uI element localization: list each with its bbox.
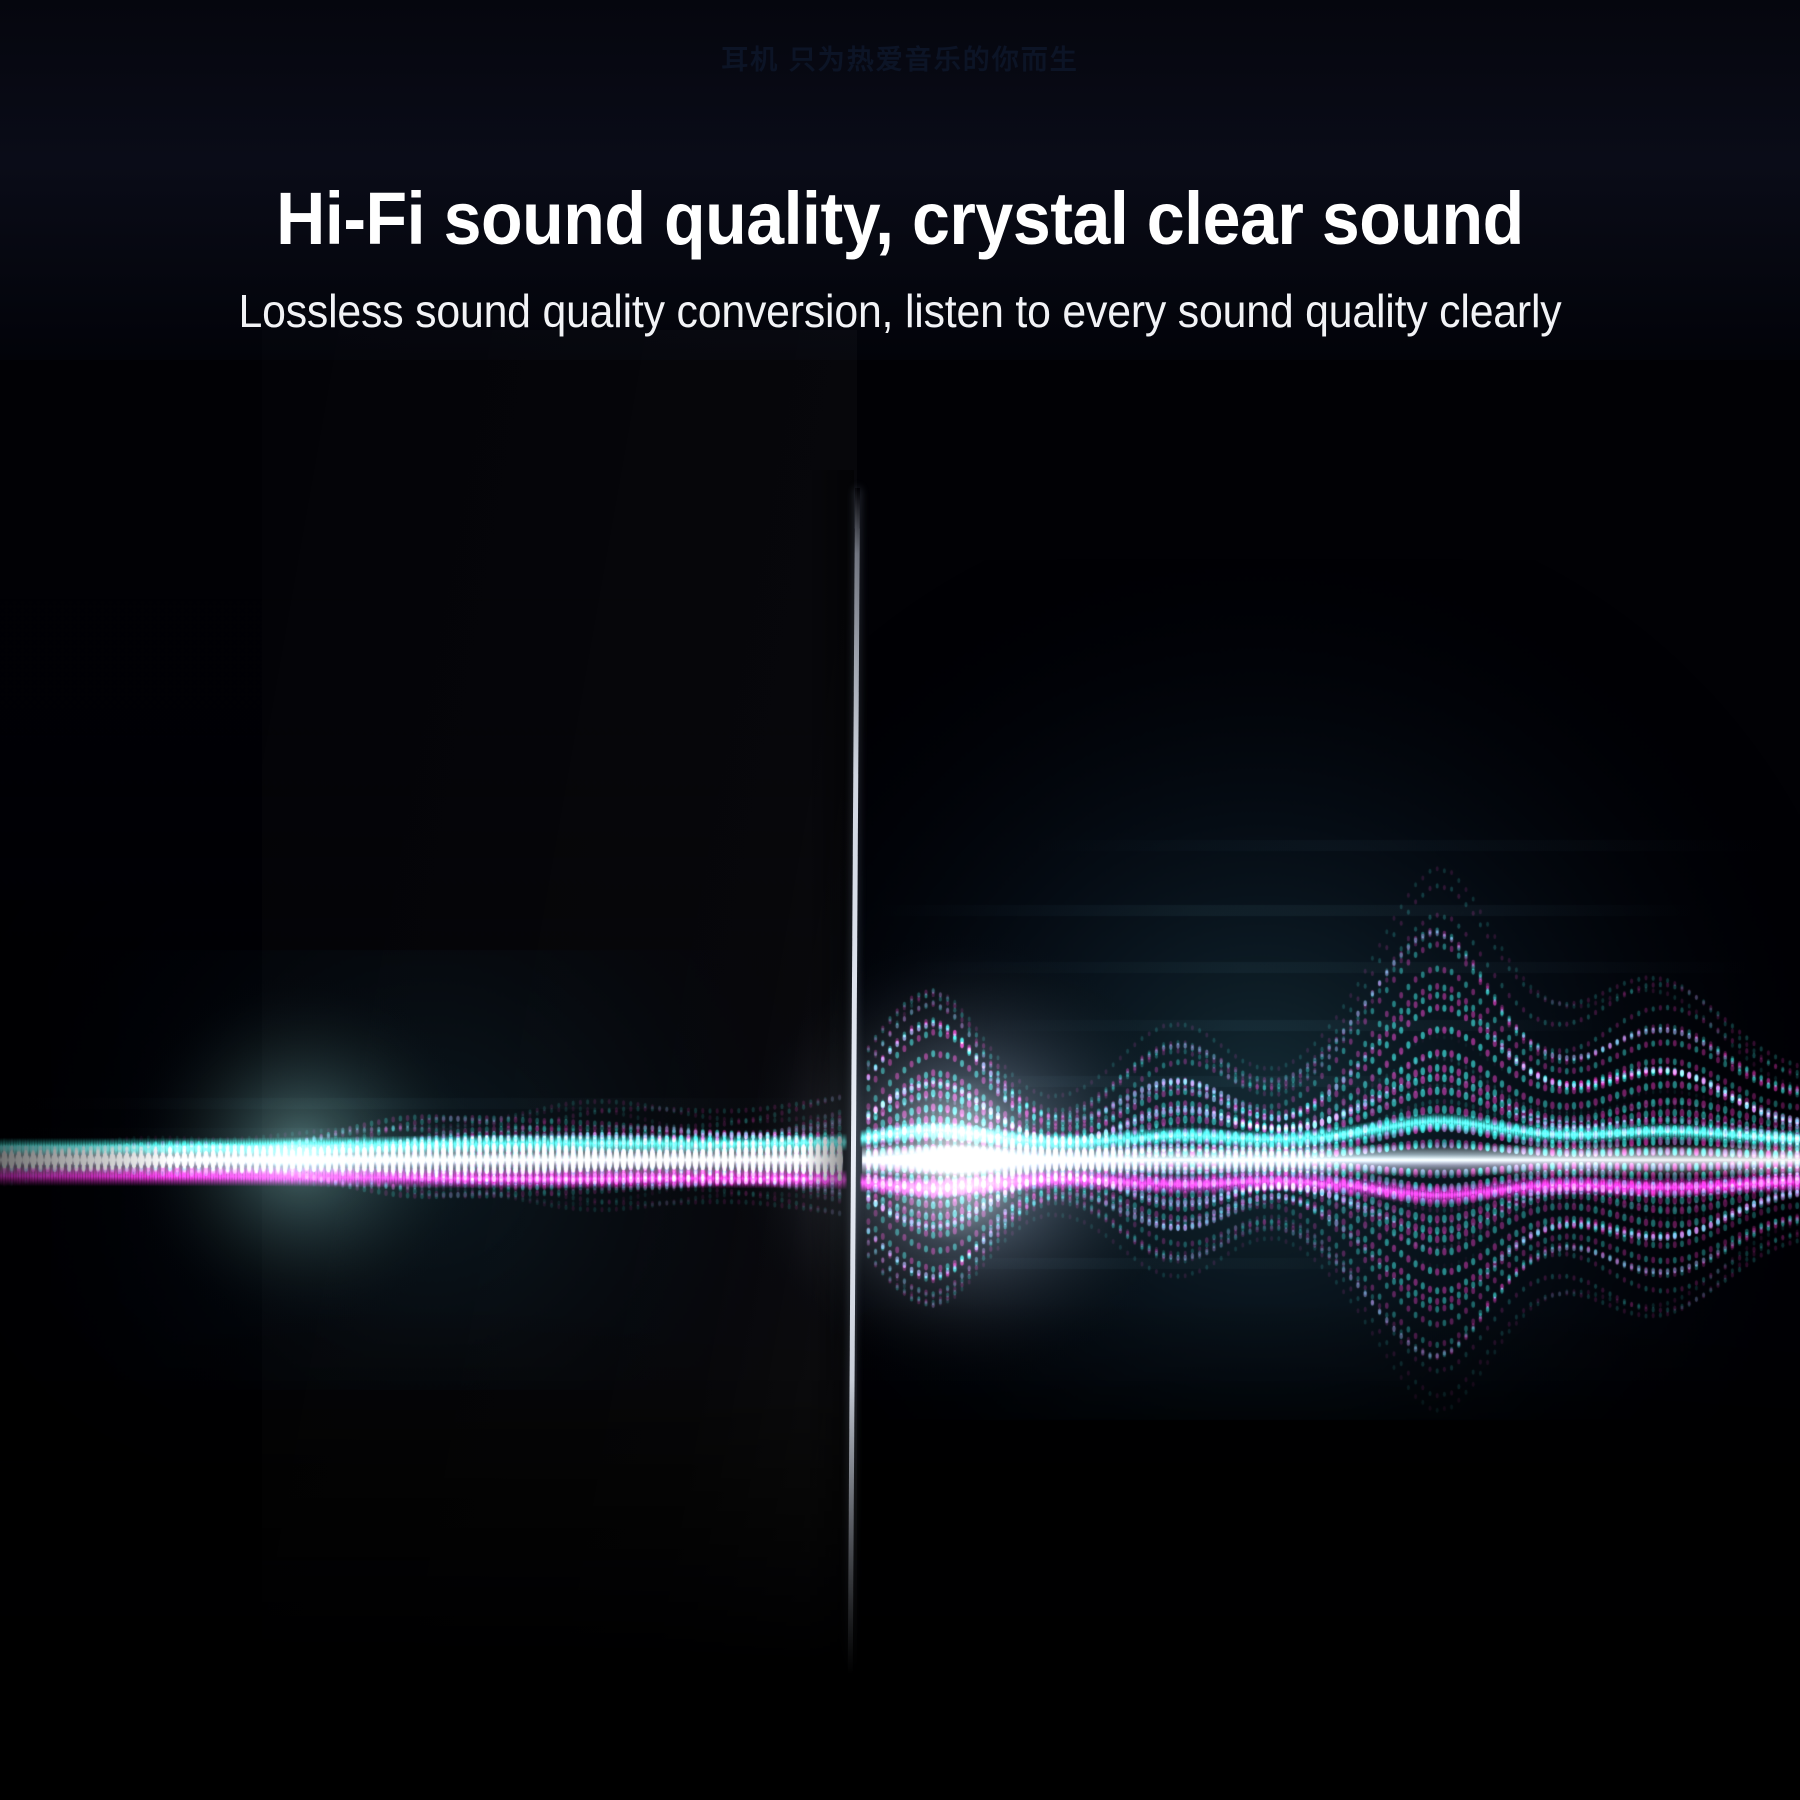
divider-shadow <box>806 470 854 1800</box>
page-subtitle: Lossless sound quality conversion, liste… <box>63 284 1737 338</box>
audio-waveform-visual <box>0 0 1800 1800</box>
page-title: Hi-Fi sound quality, crystal clear sound <box>72 182 1728 256</box>
ghost-caption: 耳机 只为热爱音乐的你而生 <box>0 38 1800 77</box>
promo-banner: 耳机 只为热爱音乐的你而生 Hi-Fi sound quality, cryst… <box>0 0 1800 1800</box>
